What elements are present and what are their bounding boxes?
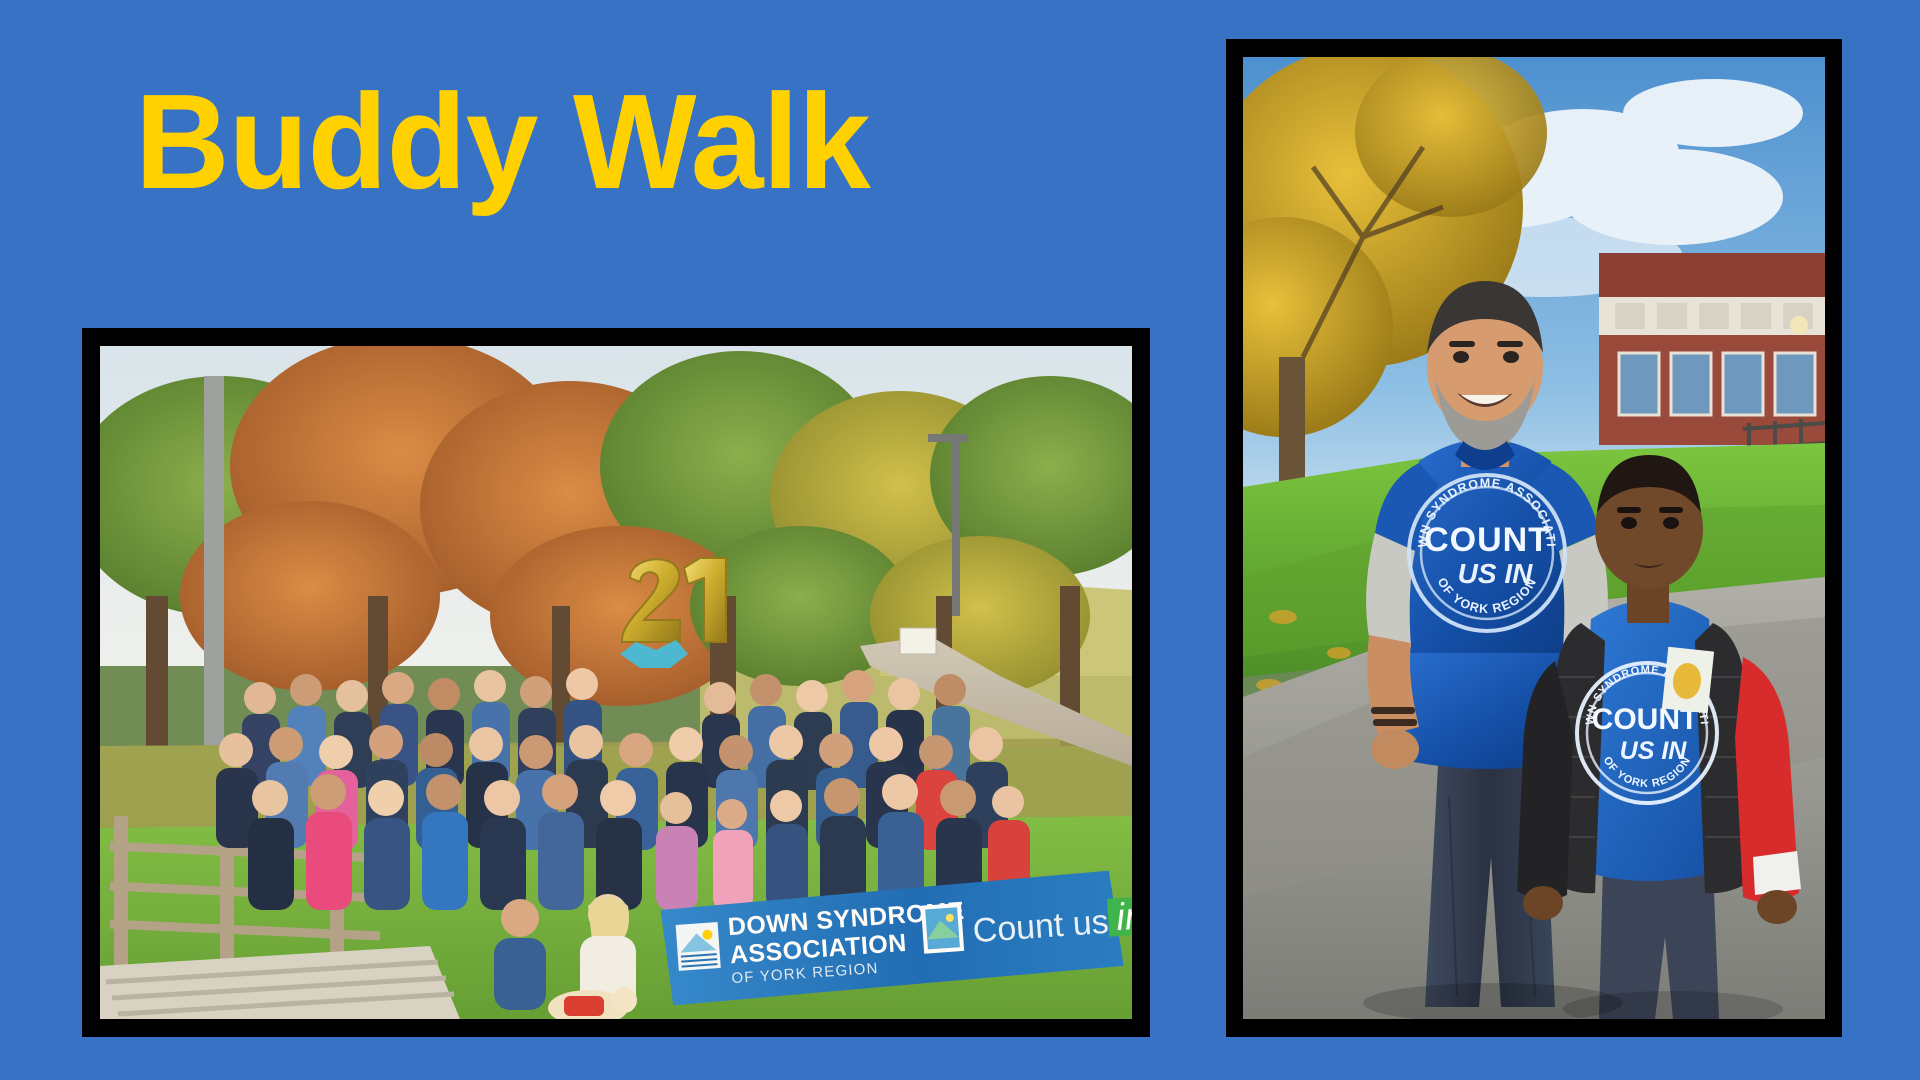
pair-photo-frame: DOWN SYNDROME ASSOCIATION OF YORK REGION… bbox=[1226, 39, 1842, 1037]
page-title: Buddy Walk bbox=[135, 72, 1008, 212]
man-shirt-logo-count: COUNT bbox=[1424, 521, 1550, 559]
man-shirt-logo-usin: US IN bbox=[1458, 558, 1533, 589]
group-photo-image: DOWN SYNDROME ASSOCIATION OF YORK REGION… bbox=[100, 346, 1132, 1019]
boy-shirt-logo-usin: US IN bbox=[1620, 737, 1688, 765]
poster-canvas: Buddy Walk bbox=[0, 0, 1920, 1080]
pair-photo-image: DOWN SYNDROME ASSOCIATION OF YORK REGION… bbox=[1243, 57, 1825, 1019]
group-photo-frame: DOWN SYNDROME ASSOCIATION OF YORK REGION… bbox=[82, 328, 1150, 1037]
